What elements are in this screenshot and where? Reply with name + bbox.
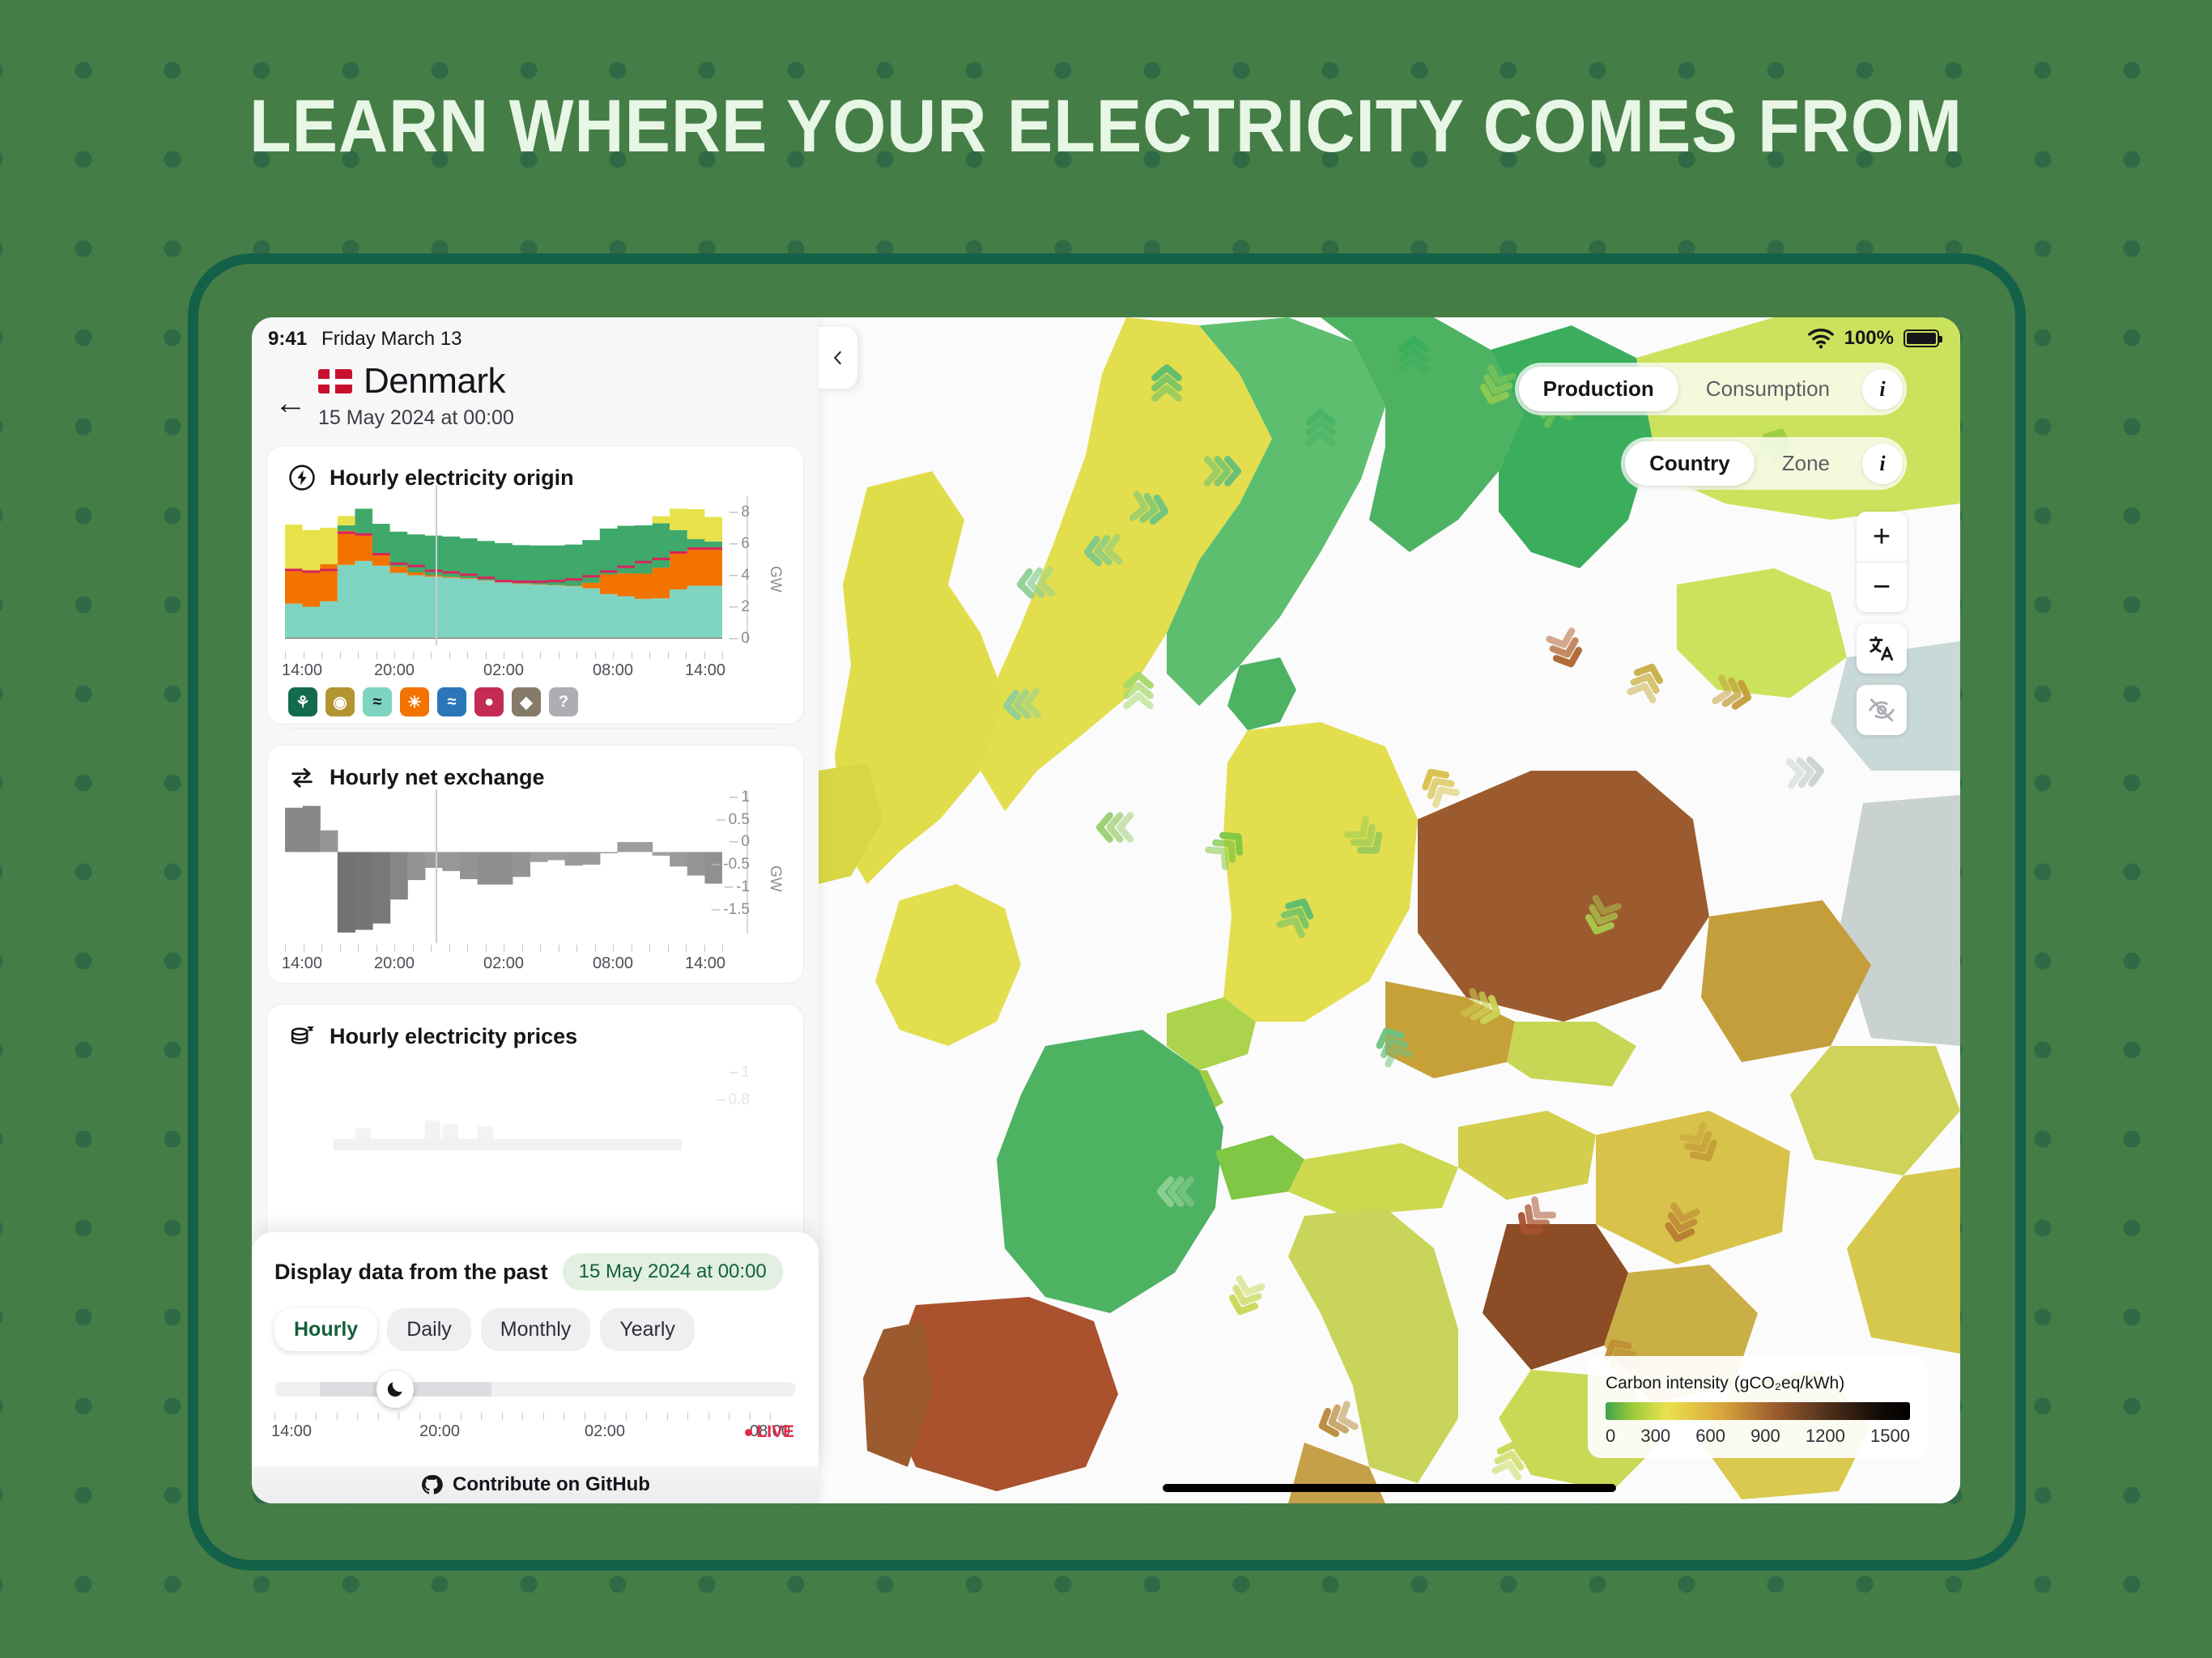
legend-gradient-bar: [1606, 1402, 1910, 1420]
x-tick-label: 02:00: [585, 1422, 625, 1441]
exchange-y-tick: 1: [730, 789, 750, 806]
exchange-y-tick: -1: [725, 878, 750, 896]
exchange-y-tick: 0: [730, 833, 750, 851]
hourly-electricity-origin-card: Hourly electricity origin 02468 GW 14:00…: [266, 445, 804, 725]
origin-chart: 02468 GW: [285, 503, 785, 653]
sprout-icon[interactable]: ⚘: [288, 687, 317, 716]
question-mark-icon[interactable]: ?: [549, 687, 578, 716]
oil-drop-icon[interactable]: ◆: [512, 687, 541, 716]
legend-tick: 0: [1606, 1426, 1615, 1447]
aggregation-tabs: HourlyDailyMonthlyYearly: [274, 1308, 796, 1351]
battery-icon: [1904, 329, 1939, 347]
legend-tick: 1500: [1870, 1426, 1910, 1447]
github-label: Contribute on GitHub: [453, 1473, 650, 1496]
x-tick-label: 20:00: [374, 954, 415, 973]
display-data-row: Display data from the past 15 May 2024 a…: [274, 1253, 796, 1290]
price-chart-y-axis: 10.8: [701, 1065, 750, 1154]
aggregation-tab-yearly[interactable]: Yearly: [600, 1308, 695, 1351]
exchange-chart-y-unit: GW: [766, 865, 784, 892]
waves-icon[interactable]: ≈: [437, 687, 466, 716]
time-controller: Display data from the past 15 May 2024 a…: [252, 1232, 819, 1466]
coins-icon: [288, 1022, 316, 1050]
exchange-chart-y-axis: 10.50-0.5-1-1.5: [700, 793, 750, 933]
hide-layers-button[interactable]: [1857, 685, 1907, 735]
home-indicator: [1163, 1484, 1616, 1492]
origin-y-tick: 8: [730, 504, 750, 521]
origin-legend: ⚘◉≈☀≈●◆?: [267, 684, 803, 716]
exchange-y-tick: -0.5: [712, 856, 750, 874]
hourly-net-exchange-card: Hourly net exchange 10.50-0.5-1-1.5 GW 1…: [266, 745, 804, 984]
price-chart-ghost: 10.8: [285, 1065, 785, 1162]
info-icon[interactable]: i: [1862, 369, 1903, 410]
exchange-y-tick: -1.5: [712, 901, 750, 919]
x-tick-label: 14:00: [685, 954, 725, 973]
display-data-label: Display data from the past: [274, 1260, 548, 1285]
card-title-exchange: Hourly net exchange: [267, 746, 803, 796]
chevron-left-icon: [827, 347, 849, 368]
slider-tickmarks: [274, 1413, 796, 1421]
origin-chart-y-axis: 02468: [700, 498, 750, 644]
language-icon: [1867, 634, 1896, 663]
origin-chart-x-axis: 14:0020:0002:0008:0014:00: [285, 657, 785, 684]
wifi-icon: [1807, 328, 1835, 349]
time-slider[interactable]: [274, 1371, 796, 1408]
exchange-x-tickmarks: [285, 945, 722, 953]
toggle-production[interactable]: Production: [1519, 367, 1678, 411]
x-tick-label: 08:00: [593, 661, 633, 680]
price-y-tick: 0.8: [717, 1091, 750, 1109]
aggregation-tab-hourly[interactable]: Hourly: [274, 1308, 377, 1351]
card-title-origin: Hourly electricity origin: [267, 446, 803, 496]
exchange-chart: 10.50-0.5-1-1.5 GW: [285, 802, 785, 946]
origin-y-tick: 2: [730, 598, 750, 616]
origin-chart-y-unit: GW: [766, 566, 784, 593]
legend-title-text: Carbon intensity: [1606, 1374, 1729, 1392]
toggle-zone[interactable]: Zone: [1758, 441, 1854, 486]
status-bar-right: 100%: [1807, 327, 1939, 350]
lightning-bolt-icon: [288, 464, 316, 491]
legend-tick: 600: [1695, 1426, 1725, 1447]
origin-chart-plot: [285, 503, 722, 639]
x-tick-label: 02:00: [483, 954, 524, 973]
status-bar-left: 9:41 Friday March 13: [252, 317, 462, 351]
electricity-map[interactable]: 100% Production Consumption i Country Zo…: [819, 317, 1960, 1503]
zone-header: ← Denmark 15 May 2024 at 00:00: [252, 361, 819, 430]
legend-unit: (gCO₂eq/kWh): [1734, 1374, 1845, 1392]
time-slider-axis: 14:0020:0002:0008:00 LIVE: [274, 1418, 796, 1450]
x-tick-label: 20:00: [419, 1422, 460, 1441]
language-button[interactable]: [1857, 623, 1907, 674]
status-time: 9:41: [268, 328, 307, 351]
toggle-country[interactable]: Country: [1625, 441, 1755, 486]
carbon-intensity-legend: Carbon intensity (gCO₂eq/kWh) 0300600900…: [1588, 1356, 1928, 1458]
page-headline: LEARN WHERE YOUR ELECTRICITY COMES FROM: [88, 84, 2123, 169]
origin-chart-hover-line: [436, 485, 437, 645]
price-chart-plot: [285, 1065, 722, 1154]
live-indicator[interactable]: LIVE: [745, 1422, 794, 1442]
panel-collapse-button[interactable]: [819, 327, 857, 389]
card-title-label: Hourly electricity origin: [330, 466, 574, 491]
map-canvas[interactable]: [819, 317, 1960, 1503]
exchange-chart-plot: [285, 802, 722, 933]
info-icon[interactable]: i: [1862, 444, 1903, 484]
card-title-label: Hourly electricity prices: [330, 1024, 577, 1049]
github-icon: [420, 1473, 443, 1496]
x-tick-label: 14:00: [282, 661, 322, 680]
legend-title: Carbon intensity (gCO₂eq/kWh): [1606, 1371, 1910, 1394]
origin-y-tick: 6: [730, 535, 750, 553]
x-tick-label: 02:00: [483, 661, 524, 680]
price-y-tick: 1: [730, 1064, 750, 1082]
live-dot-icon: [745, 1429, 752, 1436]
x-tick-label: 08:00: [593, 954, 633, 973]
x-tick-label: 20:00: [374, 661, 415, 680]
aggregation-tab-monthly[interactable]: Monthly: [481, 1308, 591, 1351]
eye-off-icon: [1867, 695, 1896, 725]
zone-detail-panel: 9:41 Friday March 13 ← Denmark 15 May 20…: [252, 317, 819, 1503]
exchange-arrows-icon: [288, 763, 316, 791]
back-arrow-icon[interactable]: ←: [274, 387, 307, 419]
x-tick-label: 14:00: [685, 661, 725, 680]
toggle-consumption[interactable]: Consumption: [1682, 367, 1854, 411]
origin-y-tick: 0: [730, 630, 750, 648]
card-title-label: Hourly net exchange: [330, 765, 545, 790]
legend-ticks: 030060090012001500: [1606, 1426, 1910, 1447]
legend-tick: 300: [1640, 1426, 1670, 1447]
live-label-text: LIVE: [756, 1422, 794, 1442]
moon-icon: [385, 1379, 406, 1400]
sun-icon[interactable]: ☀: [400, 687, 429, 716]
page-title: Denmark: [364, 361, 505, 402]
flame-icon[interactable]: ●: [474, 687, 504, 716]
time-slider-knob[interactable]: [376, 1371, 414, 1408]
origin-y-tick: 4: [730, 567, 750, 585]
zoom-out-button[interactable]: −: [1857, 562, 1907, 612]
battery-percent: 100%: [1844, 327, 1894, 350]
status-date: Friday March 13: [321, 328, 462, 351]
map-control-buttons: + −: [1857, 512, 1907, 735]
contribute-on-github-link[interactable]: Contribute on GitHub: [252, 1466, 819, 1503]
production-consumption-toggle: Production Consumption i: [1515, 363, 1907, 415]
zone-datetime: 15 May 2024 at 00:00: [318, 406, 514, 430]
card-title-price: Hourly electricity prices: [267, 1005, 803, 1055]
country-zone-toggle: Country Zone i: [1621, 437, 1907, 490]
wind-icon[interactable]: ≈: [363, 687, 392, 716]
exchange-y-tick: 0.5: [717, 811, 750, 829]
device-screen: 9:41 Friday March 13 ← Denmark 15 May 20…: [252, 317, 1960, 1503]
exchange-chart-x-axis: 14:0020:0002:0008:0014:00: [285, 950, 785, 977]
zoom-in-button[interactable]: +: [1857, 512, 1907, 562]
hourly-electricity-prices-card: Hourly electricity prices 10.8: [266, 1004, 804, 1247]
geothermal-icon[interactable]: ◉: [325, 687, 355, 716]
legend-tick: 1200: [1806, 1426, 1845, 1447]
x-tick-label: 14:00: [271, 1422, 312, 1441]
aggregation-tab-daily[interactable]: Daily: [387, 1308, 471, 1351]
legend-tick: 900: [1750, 1426, 1780, 1447]
x-tick-label: 14:00: [282, 954, 322, 973]
selected-datetime-pill[interactable]: 15 May 2024 at 00:00: [563, 1253, 783, 1290]
origin-x-tickmarks: [285, 652, 722, 660]
flag-denmark-icon: [318, 369, 352, 393]
exchange-chart-hover-line: [436, 789, 437, 943]
